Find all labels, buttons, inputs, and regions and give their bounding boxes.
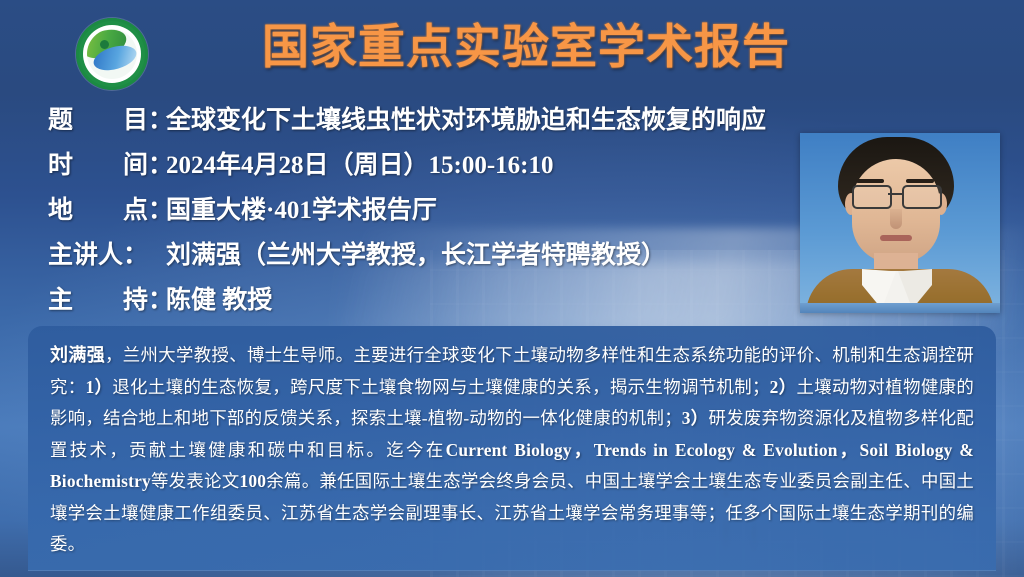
info-label-speaker: 主讲人：: [48, 235, 166, 271]
info-label-topic: 题 目：: [48, 100, 166, 136]
speaker-bio-panel: 刘满强，兰州大学教授、博士生导师。主要进行全球变化下土壤动物多样性和生态系统功能…: [28, 326, 996, 571]
info-value-host: 陈健 教授: [166, 280, 272, 316]
bio-point-2-number: 2）: [770, 377, 797, 397]
bio-point-1-number: 1）: [86, 377, 113, 397]
portrait-desk: [800, 303, 1000, 313]
poster-root: 国家重点实验室学术报告 题 目： 全球变化下土壤线虫性状对环境胁迫和生态恢复的响…: [0, 0, 1024, 577]
info-value-time: 2024年4月28日（周日）15:00-16:10: [166, 145, 553, 181]
event-info-list: 题 目： 全球变化下土壤线虫性状对环境胁迫和生态恢复的响应 时 间： 2024年…: [48, 100, 848, 325]
info-row-location: 地 点： 国重大楼·401学术报告厅: [48, 190, 848, 235]
portrait-nose: [890, 209, 902, 229]
poster-header: 国家重点实验室学术报告: [0, 0, 1024, 96]
info-row-topic: 题 目： 全球变化下土壤线虫性状对环境胁迫和生态恢复的响应: [48, 100, 848, 145]
portrait-glasses-icon: [851, 185, 941, 207]
info-row-time: 时 间： 2024年4月28日（周日）15:00-16:10: [48, 145, 848, 190]
info-value-speaker: 刘满强（兰州大学教授，长江学者特聘教授）: [166, 235, 666, 271]
portrait-mouth: [880, 235, 912, 241]
info-row-speaker: 主讲人： 刘满强（兰州大学教授，长江学者特聘教授）: [48, 235, 848, 280]
info-label-location: 地 点：: [48, 190, 166, 226]
bio-point-1: 退化土壤的生态恢复，跨尺度下土壤食物网与土壤健康的关系，揭示生物调节机制；: [112, 377, 769, 397]
bio-speaker-name: 刘满强: [50, 345, 105, 366]
speaker-bio-text: 刘满强，兰州大学教授、博士生导师。主要进行全球变化下土壤动物多样性和生态系统功能…: [50, 340, 974, 561]
portrait-eyebrow-left: [856, 179, 884, 183]
portrait-eyebrow-right: [906, 179, 934, 183]
info-label-time: 时 间：: [48, 145, 166, 181]
info-label-host: 主 持：: [48, 280, 166, 316]
state-key-laboratory-logo-icon: [76, 18, 148, 90]
bio-paper-count: 100: [240, 471, 267, 491]
page-title: 国家重点实验室学术报告: [206, 16, 846, 80]
speaker-portrait-photo: [800, 133, 1000, 313]
info-value-location: 国重大楼·401学术报告厅: [166, 190, 437, 226]
info-value-topic: 全球变化下土壤线虫性状对环境胁迫和生态恢复的响应: [166, 100, 766, 136]
bio-point-3-number: 3）: [682, 408, 709, 428]
info-row-host: 主 持： 陈健 教授: [48, 280, 848, 325]
bio-body-2: 等发表论文: [151, 471, 240, 491]
